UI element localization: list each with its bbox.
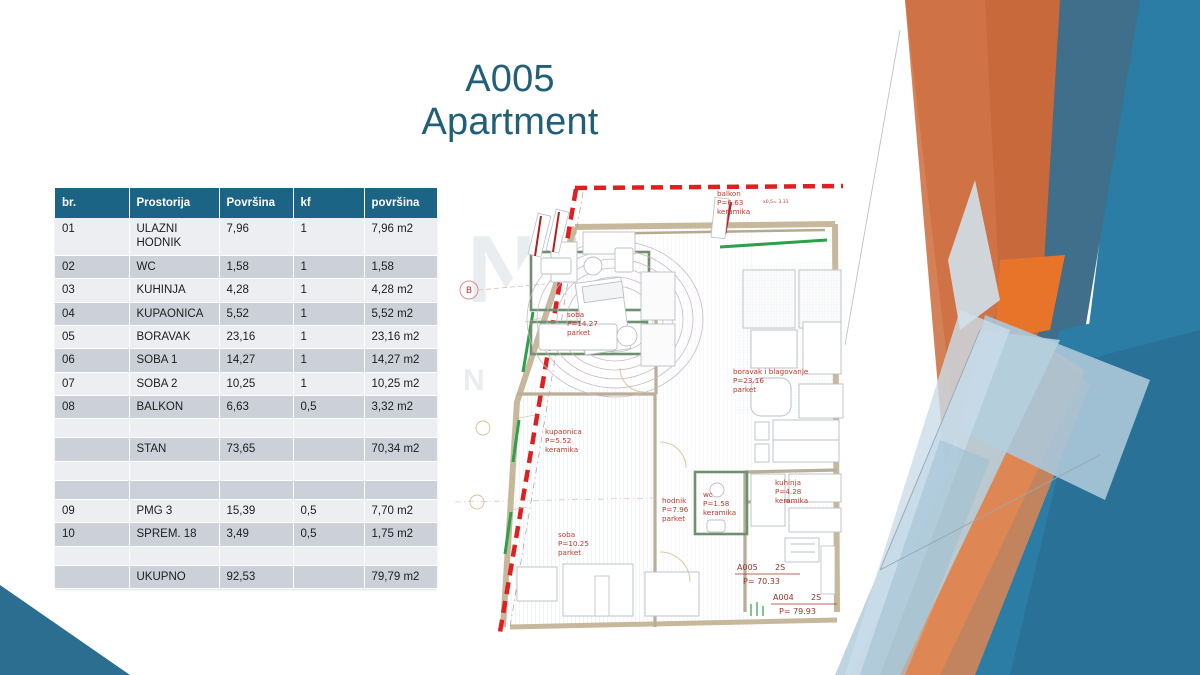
room-name: soba (567, 310, 584, 319)
cell-kf (293, 419, 364, 438)
cell-total: 4,28 m2 (364, 279, 437, 302)
cell-total (364, 480, 437, 499)
room-name: kuhinja (775, 478, 801, 487)
cell-povrsina (219, 546, 293, 565)
room-area: P=14.27 (567, 319, 598, 328)
room-area: P=4.28 (775, 487, 802, 496)
room-area: P=10.25 (558, 539, 589, 548)
cell-prostorija: BALKON (129, 396, 219, 419)
cell-total: 70,34 m2 (364, 438, 437, 461)
cell-prostorija: SPREM. 18 (129, 523, 219, 546)
room-name: hodnik (662, 496, 687, 505)
cell-br: 05 (55, 325, 129, 348)
table-row: 06SOBA 114,27114,27 m2 (55, 349, 437, 372)
cell-prostorija (129, 480, 219, 499)
cell-povrsina: 14,27 (219, 349, 293, 372)
cell-prostorija: KUPAONICA (129, 302, 219, 325)
cell-kf: 0,5 (293, 523, 364, 546)
cell-prostorija (129, 546, 219, 565)
table-row: 01ULAZNI HODNIK7,9617,96 m2 (55, 218, 437, 255)
table-row: 02WC1,5811,58 (55, 255, 437, 278)
table-row: 09PMG 315,390,57,70 m2 (55, 499, 437, 522)
cell-kf: 0,5 (293, 499, 364, 522)
corner-wedge-decoration (0, 585, 130, 675)
table-row: 08BALKON6,630,53,32 m2 (55, 396, 437, 419)
cell-kf (293, 461, 364, 480)
col-header-povrsina: Površina (219, 188, 293, 218)
room-finish: keramika (775, 496, 808, 505)
cell-br (55, 419, 129, 438)
title-subtitle: Apartment (300, 101, 720, 144)
cell-total: 7,70 m2 (364, 499, 437, 522)
cell-povrsina: 4,28 (219, 279, 293, 302)
col-header-br: br. (55, 188, 129, 218)
cell-total: 23,16 m2 (364, 325, 437, 348)
cell-povrsina: 73,65 (219, 438, 293, 461)
cell-kf: 1 (293, 372, 364, 395)
cell-total: 3,32 m2 (364, 396, 437, 419)
cell-povrsina (219, 461, 293, 480)
room-area: P=6.63 (717, 198, 743, 207)
cell-povrsina: 15,39 (219, 499, 293, 522)
cell-prostorija: STAN (129, 438, 219, 461)
cell-br (55, 438, 129, 461)
cell-povrsina: 3,49 (219, 523, 293, 546)
cell-prostorija: UKUPNO (129, 565, 219, 588)
room-area: P=5.52 (545, 436, 571, 445)
room-finish: keramika (703, 508, 736, 517)
cell-prostorija: SOBA 1 (129, 349, 219, 372)
room-name: boravak i blagovanje (733, 367, 809, 376)
cell-br: 09 (55, 499, 129, 522)
room-finish: keramika (717, 207, 750, 216)
table-row: 10SPREM. 183,490,51,75 m2 (55, 523, 437, 546)
cell-total (364, 461, 437, 480)
cell-br: 04 (55, 302, 129, 325)
floorplan-drawing: NOA NEKRETNINE (455, 172, 845, 642)
room-finish: parket (558, 548, 581, 557)
cell-br (55, 480, 129, 499)
table-row: 05BORAVAK23,16123,16 m2 (55, 325, 437, 348)
cell-br (55, 461, 129, 480)
room-finish: keramika (545, 445, 578, 454)
grid-marker-label: B (466, 286, 472, 296)
cell-br: 01 (55, 218, 129, 255)
room-extra: x0,5= 3.31 (763, 199, 789, 205)
table-row: STAN73,6570,34 m2 (55, 438, 437, 461)
cell-kf: 1 (293, 218, 364, 255)
cell-total: 79,79 m2 (364, 565, 437, 588)
unit-type: 2S (775, 563, 785, 572)
room-finish: parket (733, 385, 756, 394)
furniture-living-room (737, 262, 843, 418)
cell-kf: 1 (293, 349, 364, 372)
cell-prostorija (129, 461, 219, 480)
cell-kf: 0,5 (293, 396, 364, 419)
cell-br: 02 (55, 255, 129, 278)
cell-total: 1,58 (364, 255, 437, 278)
table-header-row: br. Prostorija Površina kf površina (55, 188, 437, 218)
cell-total: 7,96 m2 (364, 218, 437, 255)
slide-canvas: A005 Apartment br. Prostorija Površina k… (0, 0, 1200, 675)
table-row: 03KUHINJA4,2814,28 m2 (55, 279, 437, 302)
cell-prostorija: KUHINJA (129, 279, 219, 302)
cell-kf: 1 (293, 279, 364, 302)
cell-kf (293, 546, 364, 565)
cell-prostorija: BORAVAK (129, 325, 219, 348)
room-area: P=1.58 (703, 499, 730, 508)
cell-prostorija: WC (129, 255, 219, 278)
page-title: A005 Apartment (300, 58, 720, 143)
room-name: soba (558, 530, 575, 539)
cell-total (364, 546, 437, 565)
cell-br (55, 546, 129, 565)
unit-type: 2S (811, 593, 821, 602)
cell-prostorija (129, 419, 219, 438)
cell-kf (293, 438, 364, 461)
cell-kf (293, 565, 364, 588)
table-row: UKUPNO92,5379,79 m2 (55, 565, 437, 588)
cell-povrsina: 6,63 (219, 396, 293, 419)
unit-code: A004 (773, 593, 794, 602)
cell-povrsina: 92,53 (219, 565, 293, 588)
room-name: kupaonica (545, 427, 582, 436)
table-spacer-row (55, 461, 437, 480)
cell-prostorija: PMG 3 (129, 499, 219, 522)
table-spacer-row (55, 546, 437, 565)
cell-br: 10 (55, 523, 129, 546)
cell-povrsina: 5,52 (219, 302, 293, 325)
table-spacer-row (55, 419, 437, 438)
col-header-prostorija: Prostorija (129, 188, 219, 218)
cell-kf: 1 (293, 325, 364, 348)
cell-povrsina: 1,58 (219, 255, 293, 278)
table-spacer-row (55, 480, 437, 499)
cell-povrsina (219, 419, 293, 438)
room-area: P=23.16 (733, 376, 764, 385)
table-row: 04KUPAONICA5,5215,52 m2 (55, 302, 437, 325)
room-specification-table: br. Prostorija Površina kf površina 01UL… (55, 188, 437, 589)
room-name: wc (703, 490, 713, 499)
cell-br: 08 (55, 396, 129, 419)
room-label-hodnik: hodnik P=7.96 parket (662, 496, 689, 523)
room-name: balkon (717, 189, 741, 198)
cell-br: 06 (55, 349, 129, 372)
cell-kf: 1 (293, 302, 364, 325)
unit-area: P= 79.93 (779, 607, 816, 616)
col-header-povrsina-total: površina (364, 188, 437, 218)
room-finish: parket (662, 514, 685, 523)
cell-prostorija: SOBA 2 (129, 372, 219, 395)
cell-br: 03 (55, 279, 129, 302)
title-code: A005 (300, 58, 720, 101)
cell-povrsina (219, 480, 293, 499)
cell-prostorija: ULAZNI HODNIK (129, 218, 219, 255)
cell-total: 1,75 m2 (364, 523, 437, 546)
table-row: 07SOBA 210,25110,25 m2 (55, 372, 437, 395)
cell-kf: 1 (293, 255, 364, 278)
grid-marker-c (470, 421, 490, 509)
col-header-kf: kf (293, 188, 364, 218)
cell-total: 5,52 m2 (364, 302, 437, 325)
room-finish: parket (567, 328, 590, 337)
cell-total (364, 419, 437, 438)
cell-br: 07 (55, 372, 129, 395)
room-label-balkon: balkon P=6.63 keramika x0,5= 3.31 (717, 189, 789, 216)
cell-total: 14,27 m2 (364, 349, 437, 372)
cell-povrsina: 10,25 (219, 372, 293, 395)
cell-kf (293, 480, 364, 499)
cell-povrsina: 7,96 (219, 218, 293, 255)
cell-povrsina: 23,16 (219, 325, 293, 348)
unit-code: A005 (737, 563, 758, 572)
room-area: P=7.96 (662, 505, 689, 514)
cell-total: 10,25 m2 (364, 372, 437, 395)
unit-area: P= 70.33 (743, 577, 780, 586)
cell-br (55, 565, 129, 588)
